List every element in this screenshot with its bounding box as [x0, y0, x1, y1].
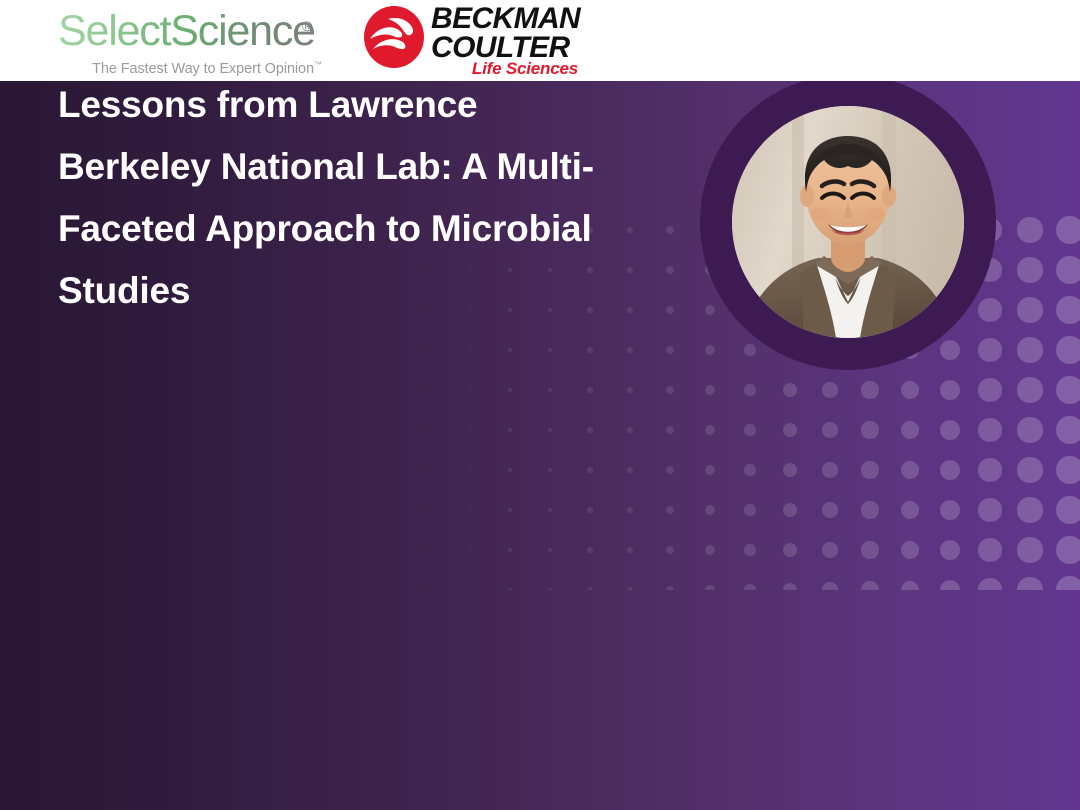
halftone-dot — [587, 467, 592, 472]
halftone-dot — [469, 429, 471, 431]
halftone-dot — [508, 548, 511, 551]
logo-header-bar: SelectScience ® The Fastest Way to Exper… — [0, 0, 1080, 81]
selectscience-logo[interactable]: SelectScience ® The Fastest Way to Exper… — [58, 8, 324, 74]
halftone-dot — [666, 386, 674, 394]
beckman-coulter-sphere-icon — [363, 6, 425, 68]
halftone-dot — [978, 538, 1001, 561]
halftone-dot — [548, 468, 552, 472]
halftone-dot — [861, 421, 878, 438]
halftone-dot — [587, 387, 592, 392]
halftone-dot — [705, 345, 715, 355]
halftone-dot — [627, 587, 634, 590]
halftone-dot — [744, 424, 756, 436]
halftone-dot — [978, 378, 1001, 401]
halftone-dot — [744, 584, 756, 590]
halftone-dot — [666, 546, 674, 554]
halftone-dot — [429, 389, 431, 391]
halftone-dot — [1056, 536, 1080, 563]
halftone-dot — [901, 461, 920, 480]
halftone-dot — [978, 498, 1001, 521]
halftone-dot — [429, 589, 431, 590]
halftone-dot — [469, 389, 471, 391]
halftone-dot — [548, 548, 552, 552]
title-block: Lessons from Lawrence Berkeley National … — [58, 74, 638, 322]
halftone-dot — [627, 427, 634, 434]
halftone-dot — [1017, 257, 1042, 282]
halftone-dot — [705, 545, 715, 555]
halftone-dot — [1056, 416, 1080, 443]
halftone-dot — [587, 547, 592, 552]
halftone-dot — [508, 588, 511, 590]
halftone-dot — [822, 462, 837, 477]
halftone-dot — [940, 580, 961, 591]
halftone-dot — [508, 388, 511, 391]
halftone-dot — [548, 588, 552, 590]
halftone-dot — [1017, 457, 1042, 482]
trademark-icon: ™ — [314, 60, 322, 69]
halftone-dot — [1056, 376, 1080, 403]
registered-trademark-icon: ® — [302, 18, 312, 34]
halftone-dot — [587, 587, 592, 590]
halftone-dot — [822, 502, 837, 517]
halftone-dot — [548, 388, 552, 392]
halftone-dot — [1017, 497, 1042, 522]
halftone-dot — [587, 507, 592, 512]
selectscience-tagline-text: The Fastest Way to Expert Opinion — [92, 61, 314, 77]
halftone-dot — [744, 544, 756, 556]
halftone-dot — [627, 547, 634, 554]
halftone-dot — [783, 543, 796, 556]
halftone-dot — [744, 504, 756, 516]
halftone-dot — [861, 461, 878, 478]
halftone-dot — [783, 383, 796, 396]
beckman-wordmark-line1: BECKMAN — [431, 4, 581, 33]
halftone-dot — [627, 347, 634, 354]
halftone-dot — [783, 423, 796, 436]
halftone-dot — [705, 305, 715, 315]
halftone-dot — [783, 463, 796, 476]
beckman-coulter-wordmark: BECKMAN COULTER — [431, 4, 581, 63]
halftone-dot — [666, 586, 674, 590]
halftone-dot — [940, 420, 961, 441]
halftone-dot — [744, 464, 756, 476]
halftone-dot — [744, 344, 756, 356]
halftone-dot — [861, 541, 878, 558]
halftone-dot — [1017, 297, 1042, 322]
halftone-dot — [822, 422, 837, 437]
halftone-dot — [940, 380, 961, 401]
halftone-dot — [1056, 256, 1080, 283]
halftone-dot — [666, 506, 674, 514]
halftone-dot — [508, 468, 511, 471]
beckman-coulter-logo[interactable]: BECKMAN COULTER Life Sciences — [363, 4, 578, 78]
halftone-dot — [861, 501, 878, 518]
halftone-dot — [940, 460, 961, 481]
halftone-dot — [627, 387, 634, 394]
halftone-dot — [861, 381, 878, 398]
halftone-dot — [627, 507, 634, 514]
halftone-dot — [548, 348, 552, 352]
halftone-dot — [1017, 377, 1042, 402]
halftone-dot — [901, 541, 920, 560]
halftone-dot — [429, 469, 431, 471]
halftone-dot — [666, 426, 674, 434]
halftone-dot — [1056, 296, 1080, 323]
speaker-avatar-ring — [700, 74, 996, 370]
halftone-dot — [1056, 456, 1080, 483]
halftone-dot — [1056, 216, 1080, 243]
selectscience-wordmark: SelectScience — [58, 8, 324, 54]
halftone-dot — [978, 418, 1001, 441]
halftone-dot — [978, 298, 1001, 321]
halftone-dot — [1017, 217, 1042, 242]
halftone-dot — [705, 425, 715, 435]
halftone-dot — [705, 385, 715, 395]
halftone-dot — [1017, 537, 1042, 562]
halftone-dot — [1017, 417, 1042, 442]
beckman-life-sciences-tagline: Life Sciences — [472, 59, 578, 79]
halftone-dot — [469, 469, 471, 471]
halftone-dot — [469, 509, 471, 511]
halftone-dot — [587, 347, 592, 352]
halftone-dot — [940, 500, 961, 521]
halftone-dot — [901, 381, 920, 400]
halftone-dot — [744, 384, 756, 396]
halftone-dot — [548, 428, 552, 432]
halftone-dot — [940, 540, 961, 561]
halftone-dot — [1056, 576, 1080, 590]
halftone-dot — [469, 349, 471, 351]
halftone-dot — [666, 266, 674, 274]
halftone-dot — [978, 458, 1001, 481]
halftone-dot — [940, 340, 961, 361]
halftone-dot — [822, 542, 837, 557]
halftone-dot — [429, 509, 431, 511]
halftone-dot — [548, 508, 552, 512]
halftone-dot — [1017, 337, 1042, 362]
halftone-dot — [1056, 496, 1080, 523]
halftone-dot — [978, 338, 1001, 361]
halftone-dot — [901, 421, 920, 440]
halftone-dot — [861, 581, 878, 590]
halftone-dot — [429, 549, 431, 551]
speaker-portrait-avatar — [732, 106, 964, 338]
halftone-dot — [508, 428, 511, 431]
halftone-dot — [1056, 336, 1080, 363]
halftone-dot — [901, 581, 920, 591]
halftone-dot — [705, 585, 715, 590]
halftone-dot — [666, 346, 674, 354]
halftone-dot — [978, 578, 1001, 590]
halftone-dot — [822, 582, 837, 590]
halftone-dot — [666, 306, 674, 314]
webinar-title-slide: SelectScience ® The Fastest Way to Exper… — [0, 0, 1080, 810]
halftone-dot — [705, 505, 715, 515]
halftone-dot — [666, 466, 674, 474]
halftone-dot — [469, 589, 471, 590]
halftone-dot — [508, 508, 511, 511]
halftone-dot — [901, 501, 920, 520]
halftone-dot — [666, 226, 674, 234]
selectscience-tagline: The Fastest Way to Expert Opinion™ — [90, 57, 324, 77]
halftone-dot — [783, 503, 796, 516]
page-title: Lessons from Lawrence Berkeley National … — [58, 74, 638, 322]
halftone-dot — [469, 549, 471, 551]
halftone-dot — [429, 429, 431, 431]
halftone-dot — [705, 465, 715, 475]
halftone-dot — [822, 382, 837, 397]
halftone-dot — [783, 583, 796, 590]
halftone-dot — [508, 348, 511, 351]
halftone-dot — [627, 467, 634, 474]
halftone-dot — [429, 349, 431, 351]
halftone-dot — [1017, 577, 1042, 590]
halftone-dot — [587, 427, 592, 432]
